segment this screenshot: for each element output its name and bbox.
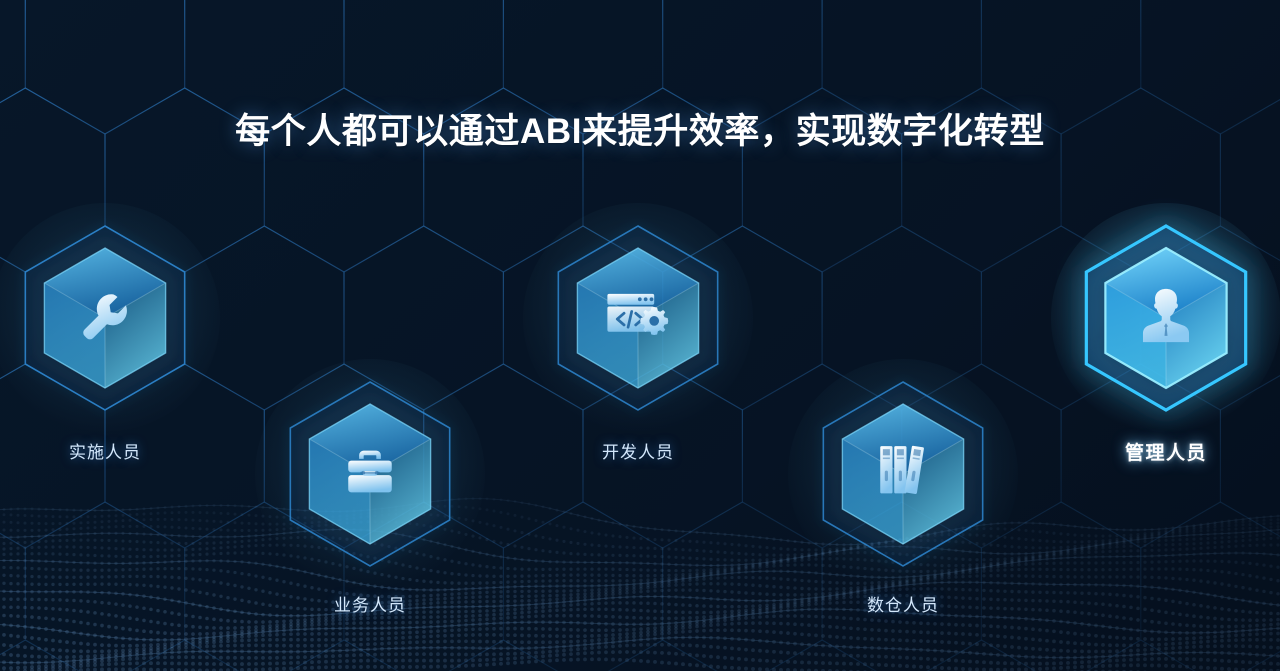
- role-label-data-warehouse: 数仓人员: [867, 591, 939, 616]
- role-hexagon-implementation: [0, 198, 225, 443]
- page-title: 每个人都可以通过ABI来提升效率，实现数字化转型: [0, 103, 1280, 154]
- role-hexagon-management: [1046, 198, 1280, 443]
- role-label-implementation: 实施人员: [69, 438, 141, 463]
- role-node-implementation[interactable]: 实施人员: [0, 198, 225, 438]
- role-node-management[interactable]: 管理人员: [1046, 198, 1280, 438]
- role-node-developer[interactable]: 开发人员: [518, 198, 758, 438]
- role-node-business[interactable]: 业务人员: [250, 354, 490, 594]
- slide-canvas: 每个人都可以通过ABI来提升效率，实现数字化转型: [0, 0, 1280, 671]
- role-label-developer: 开发人员: [602, 438, 674, 463]
- role-hexagon-business: [250, 354, 490, 599]
- role-hexagon-data-warehouse: [783, 354, 1023, 599]
- role-label-management: 管理人员: [1125, 438, 1207, 465]
- role-hexagon-developer: [518, 198, 758, 443]
- role-label-business: 业务人员: [334, 591, 406, 616]
- role-node-data-warehouse[interactable]: 数仓人员: [783, 354, 1023, 594]
